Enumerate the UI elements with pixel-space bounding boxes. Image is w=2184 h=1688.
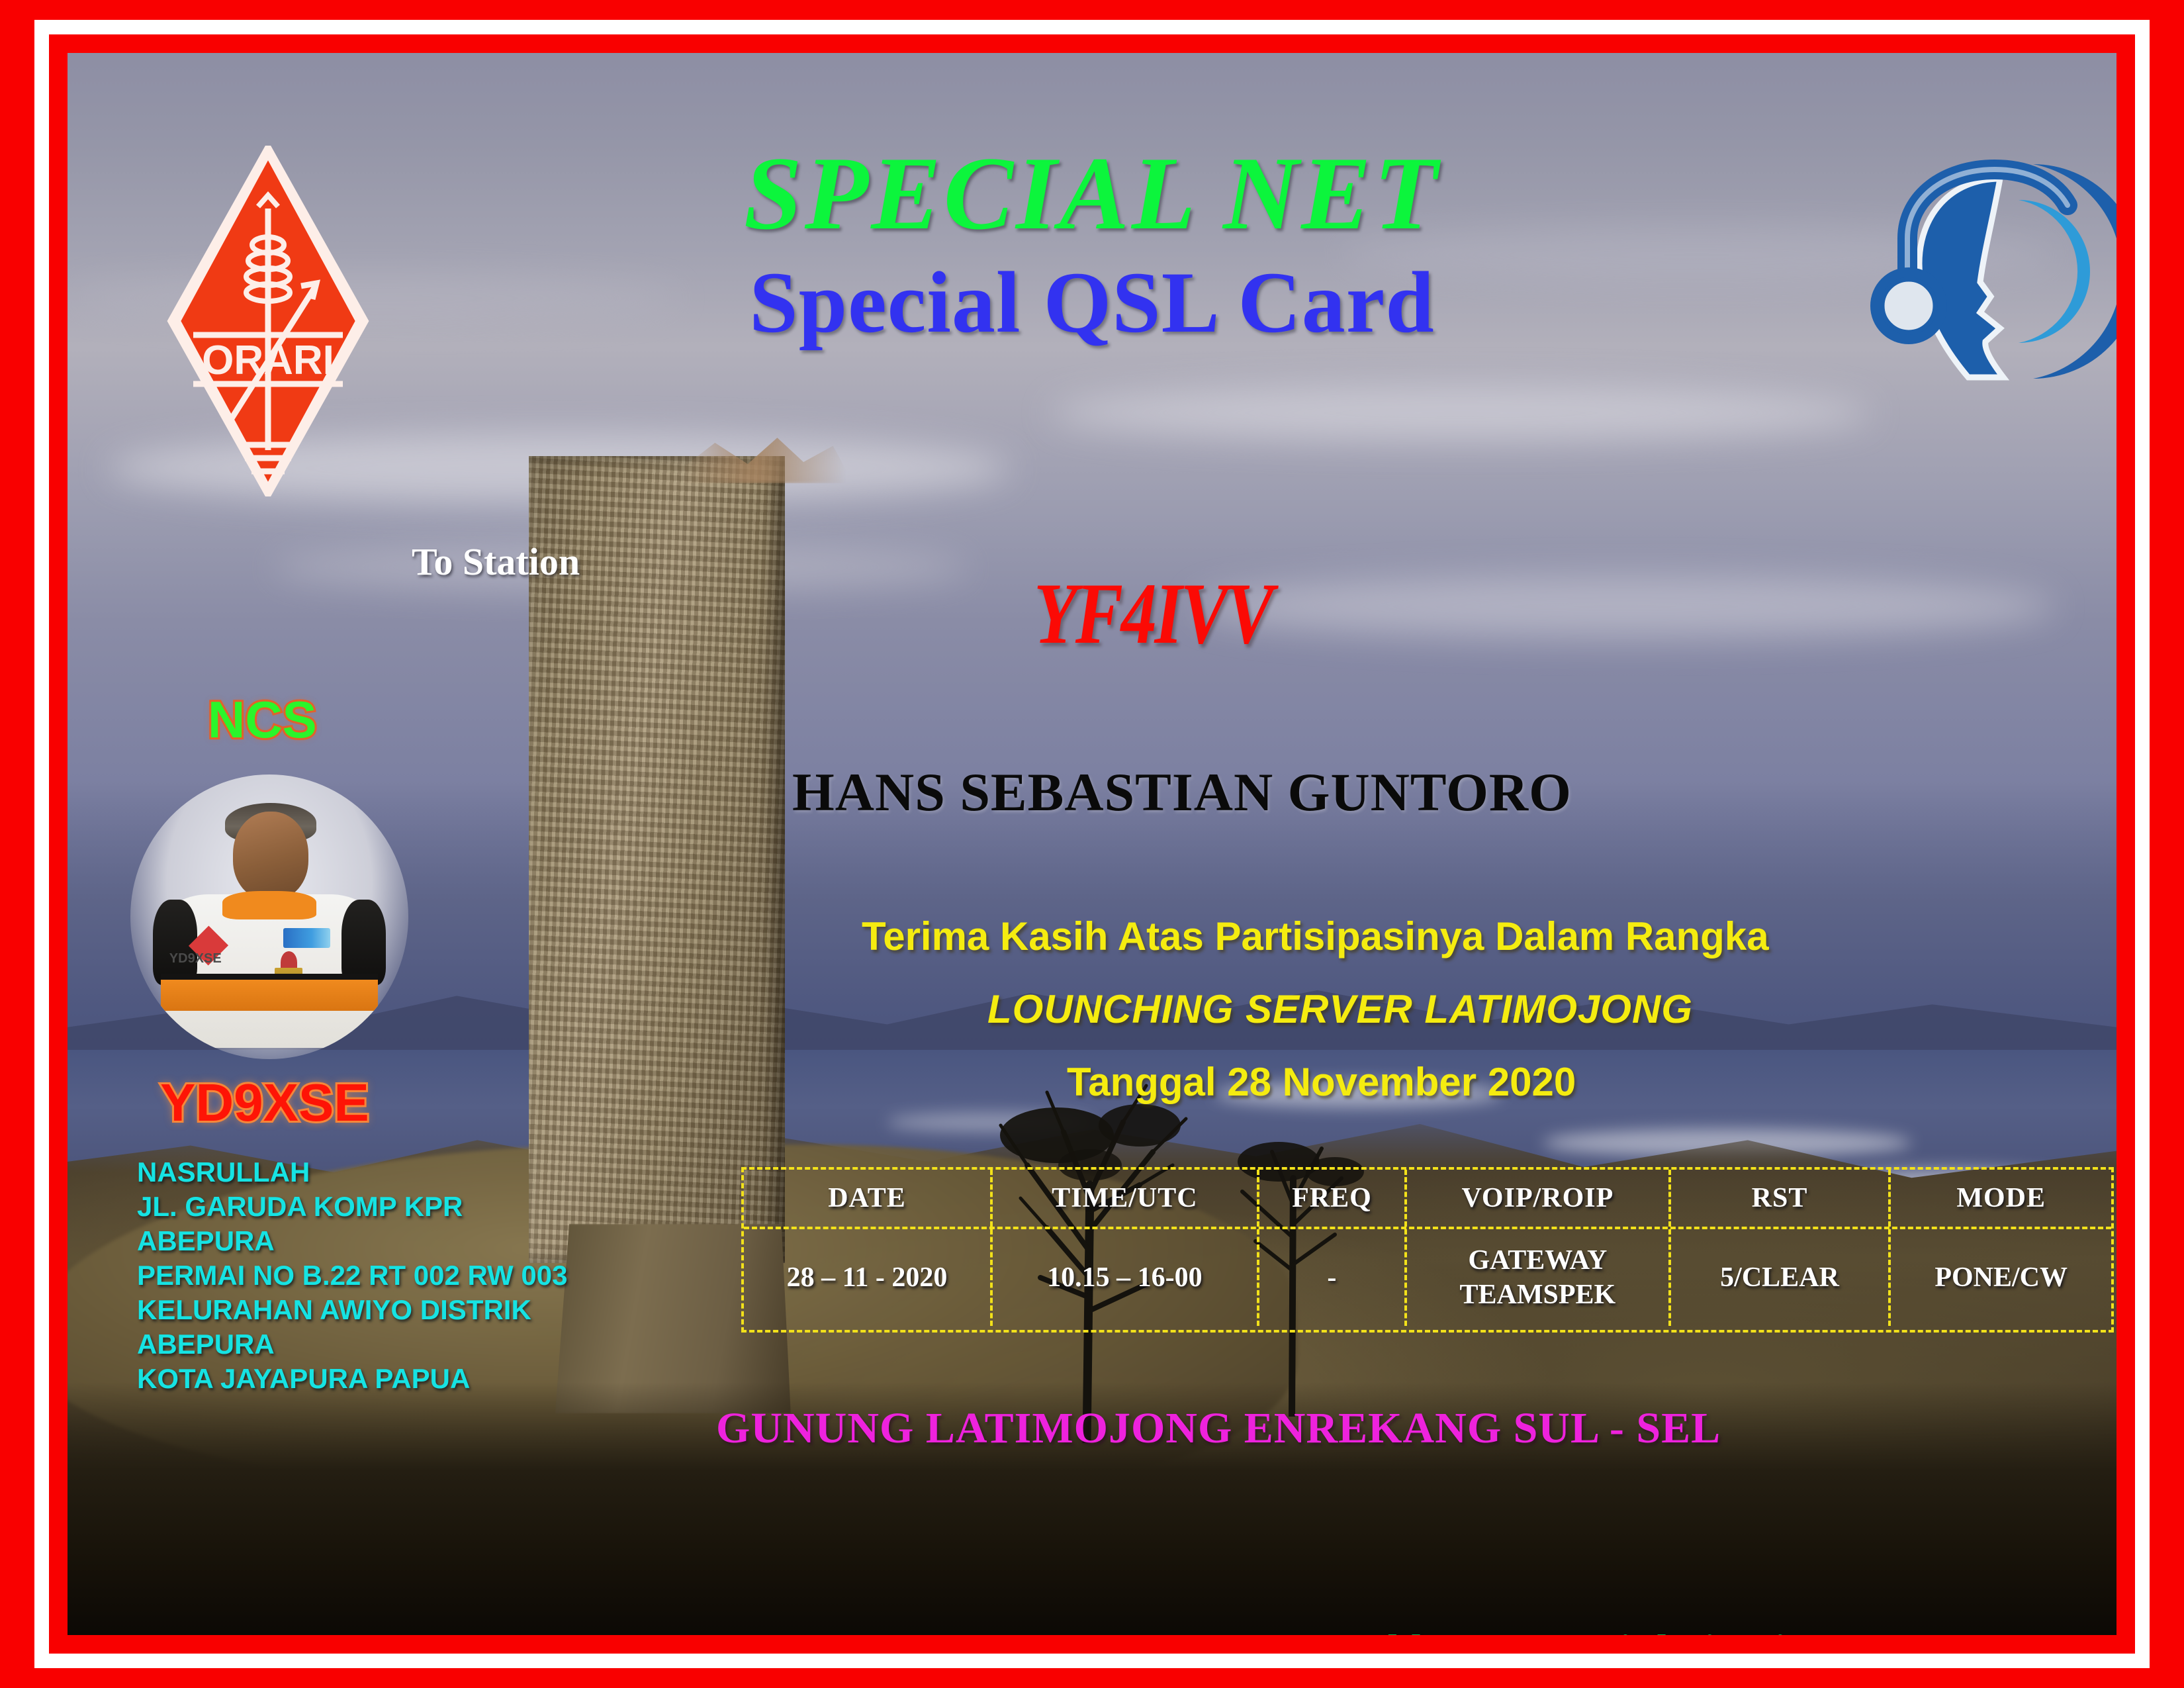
card-white-gap: ORARI xyxy=(34,20,2150,1668)
address-line: JL. GARUDA KOMP KPR xyxy=(137,1190,567,1224)
address-line: ABEPURA xyxy=(137,1224,567,1258)
table-cell-voip-line2: TEAMSPEK xyxy=(1460,1278,1616,1312)
address-line: PERMAI NO B.22 RT 002 RW 003 xyxy=(137,1258,567,1293)
thanks-line-1: Terima Kasih Atas Partisipasinya Dalam R… xyxy=(862,914,1769,959)
qso-details-table: DATE TIME/UTC FREQ VOIP/ROIP RST MODE 28… xyxy=(741,1167,2114,1333)
address-line: ABEPURA xyxy=(137,1327,567,1362)
recipient-callsign: YF4IVV xyxy=(1034,563,1271,664)
portrait-club-patch xyxy=(283,928,330,948)
qsl-card: ORARI xyxy=(0,0,2184,1688)
ncs-operator-photo: YD9XSE xyxy=(130,774,408,1059)
table-header-rst: RST xyxy=(1671,1170,1891,1227)
ncs-callsign: YD9XSE xyxy=(160,1072,369,1133)
portrait-shoulder-left xyxy=(153,900,197,985)
table-header-mode: MODE xyxy=(1891,1170,2111,1227)
cloud-band xyxy=(1195,575,2055,639)
cloud-band xyxy=(1051,385,1870,441)
station-address-block: NASRULLAH JL. GARUDA KOMP KPR ABEPURA PE… xyxy=(137,1155,567,1396)
portrait-sash xyxy=(161,980,378,1011)
portrait-shoulder-right xyxy=(341,900,386,985)
table-header-freq: FREQ xyxy=(1259,1170,1407,1227)
card-inner-red-frame: ORARI xyxy=(49,34,2135,1654)
to-station-label: To Station xyxy=(412,539,580,584)
table-cell-time-utc: 10.15 – 16-00 xyxy=(993,1229,1259,1326)
table-cell-rst: 5/CLEAR xyxy=(1671,1229,1891,1326)
table-cell-freq: - xyxy=(1259,1229,1407,1326)
web-address-text: Address : amatir.latimojong.com xyxy=(1345,1625,1938,1635)
table-cell-voip-line1: GATEWAY xyxy=(1460,1243,1616,1278)
page-title-special-net: SPECIAL NET xyxy=(68,134,2116,254)
table-header-voip-roip: VOIP/ROIP xyxy=(1407,1170,1671,1227)
portrait-head xyxy=(233,812,308,900)
ncs-label: NCS xyxy=(208,690,317,750)
location-line: GUNUNG LATIMOJONG ENREKANG SUL - SEL xyxy=(716,1403,1721,1454)
page-subtitle-special-qsl-card: Special QSL Card xyxy=(68,252,2116,353)
operator-name: HANS SEBASTIAN GUNTORO xyxy=(792,761,1572,823)
table-header-date: DATE xyxy=(744,1170,993,1227)
thanks-line-2: LOUNCHING SERVER LATIMOJONG xyxy=(987,986,1693,1032)
table-header-time-utc: TIME/UTC xyxy=(993,1170,1259,1227)
address-line: NASRULLAH xyxy=(137,1155,567,1190)
portrait-uniform-callsign: YD9XSE xyxy=(169,951,222,966)
portrait-collar xyxy=(222,891,317,919)
table-cell-voip-roip: GATEWAY TEAMSPEK xyxy=(1407,1229,1671,1326)
motto-text: "AMATIR RADIO ADALAH PROGRESIVE" xyxy=(144,1625,998,1635)
table-header-row: DATE TIME/UTC FREQ VOIP/ROIP RST MODE xyxy=(744,1170,2111,1227)
card-photo-background: ORARI xyxy=(68,53,2116,1635)
address-line: KELURAHAN AWIYO DISTRIK xyxy=(137,1293,567,1327)
table-cell-mode: PONE/CW xyxy=(1891,1229,2111,1326)
table-row: 28 – 11 - 2020 10.15 – 16-00 - GATEWAY T… xyxy=(744,1227,2111,1326)
thanks-line-3: Tanggal 28 November 2020 xyxy=(1067,1059,1576,1105)
table-cell-date: 28 – 11 - 2020 xyxy=(744,1229,993,1326)
address-line: KOTA JAYAPURA PAPUA xyxy=(137,1362,567,1396)
